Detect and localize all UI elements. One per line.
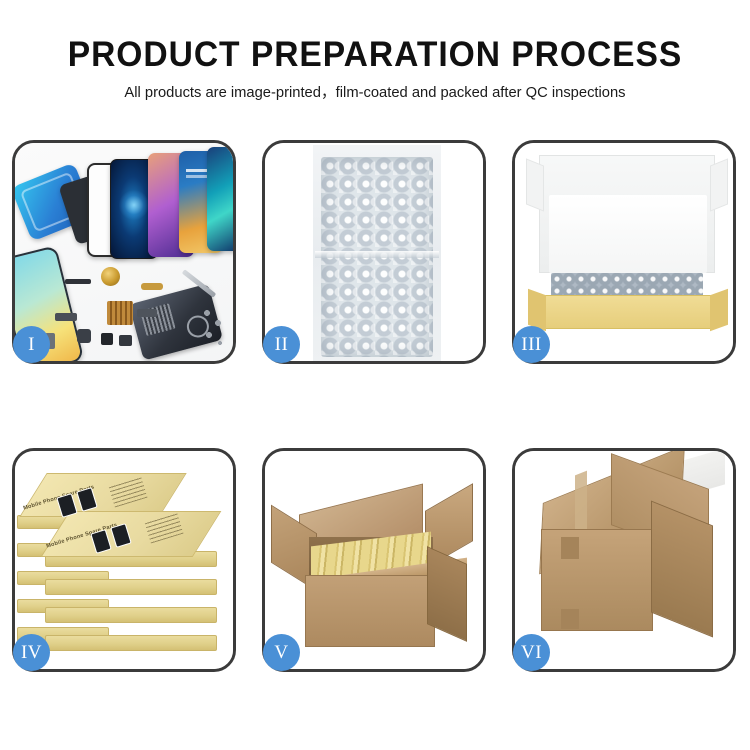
speaker-part <box>101 333 113 345</box>
contact-pad-grid-part <box>107 301 133 325</box>
step-badge-1: I <box>13 326 50 363</box>
step-badge-3: III <box>513 326 550 363</box>
gold-flex-part <box>141 283 163 290</box>
screws-part <box>203 307 225 347</box>
foam-padding <box>549 195 707 273</box>
process-step-panel-4: Mobile Phone Spare Parts Mobile Phone Sp… <box>12 448 236 672</box>
process-step-panel-1: I <box>12 140 236 364</box>
vibrator-part <box>119 335 132 346</box>
process-step-grid: I II III <box>12 140 740 672</box>
step-badge-2: II <box>263 326 300 363</box>
step-badge-6: VI <box>513 634 550 671</box>
process-step-panel-2: II <box>262 140 486 364</box>
button-flex-part <box>137 309 157 317</box>
phone-screen-teal-wave <box>207 147 233 251</box>
process-step-panel-3: III <box>512 140 736 364</box>
photo-open-shipping-carton <box>265 451 483 669</box>
sealed-carton-side-face <box>651 500 713 637</box>
retail-box-right-3 <box>45 607 217 623</box>
sealed-carton-front-face <box>541 529 653 631</box>
bubble-wrap-seam <box>315 251 439 258</box>
connector-part <box>55 313 77 321</box>
photo-bubble-wrap-protection <box>265 143 483 361</box>
carton-tab-upper <box>561 537 579 559</box>
page-subtitle: All products are image-printed，film-coat… <box>11 81 739 105</box>
step-badge-5: V <box>263 634 300 671</box>
camera-module-part <box>77 329 91 343</box>
photo-sealed-shipping-carton <box>515 451 733 669</box>
photo-stacked-retail-boxes: Mobile Phone Spare Parts Mobile Phone Sp… <box>15 451 233 669</box>
photo-inner-box-with-foam <box>515 143 733 361</box>
page-header: PRODUCT PREPARATION PROCESS All products… <box>0 0 750 105</box>
photo-phone-screens-and-spare-parts <box>15 143 233 361</box>
copper-coil-part <box>101 267 120 286</box>
kraft-box-base <box>541 295 715 329</box>
step-badge-4: IV <box>13 634 50 671</box>
page-title: PRODUCT PREPARATION PROCESS <box>15 33 735 77</box>
flex-cable-part <box>65 279 91 284</box>
retail-box-right-4 <box>45 635 217 651</box>
process-step-panel-6: VI <box>512 448 736 672</box>
retail-box-stack: Mobile Phone Spare Parts Mobile Phone Sp… <box>15 451 233 669</box>
process-step-panel-5: V <box>262 448 486 672</box>
carton-front-face <box>305 575 435 647</box>
retail-box-right-2 <box>45 579 217 595</box>
retail-box-top-face-2 <box>41 511 222 557</box>
carton-tab-lower <box>561 609 579 629</box>
